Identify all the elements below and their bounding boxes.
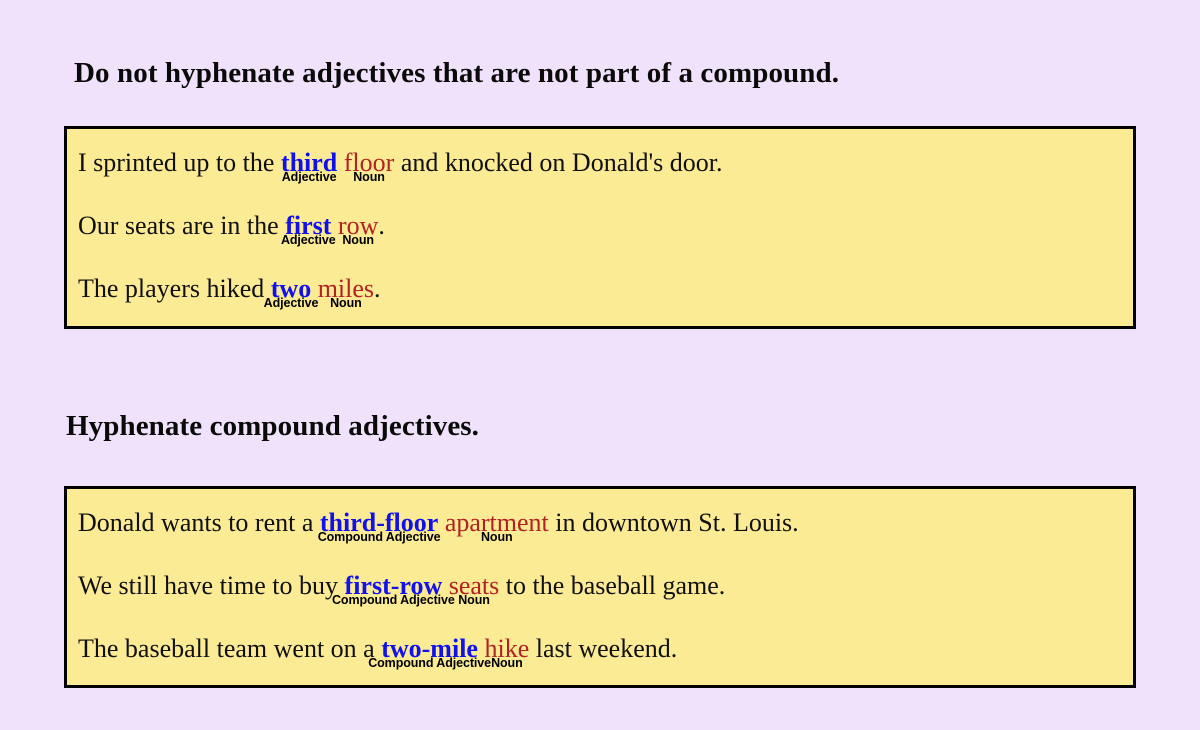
example-sentence: Our seats are in the firstAdjective rowN… [78,213,385,239]
example-sentence: We still have time to buy first-rowCompo… [78,573,725,599]
section-heading-no-hyphen: Do not hyphenate adjectives that are not… [74,57,839,90]
noun-label: Noun [342,234,374,247]
annotated-adjective: two-mileCompound Adjective [381,636,478,662]
adjective-label: Compound Adjective [318,531,441,544]
sentence-text-after: . [378,211,385,240]
annotated-noun: rowNoun [338,213,378,239]
noun-label: Noun [458,594,490,607]
noun-label: Noun [330,297,362,310]
annotated-noun: floorNoun [344,150,395,176]
sentence-text-after: last weekend. [529,634,677,663]
sentence-text-before: I sprinted up to the [78,148,281,177]
sentence-text-before: The players hiked [78,274,271,303]
example-box-no-hyphen: I sprinted up to the thirdAdjective floo… [64,126,1136,329]
example-sentence: Donald wants to rent a third-floorCompou… [78,510,799,536]
noun-label: Noun [491,657,523,670]
annotated-noun: apartmentNoun [445,510,549,536]
example-box-hyphenate: Donald wants to rent a third-floorCompou… [64,486,1136,688]
annotated-noun: hikeNoun [484,636,529,662]
adjective-label: Compound Adjective [368,657,491,670]
example-sentence: The players hiked twoAdjective milesNoun… [78,276,381,302]
sentence-text-before: We still have time to buy [78,571,345,600]
adjective-label: Adjective [264,297,319,310]
noun-label: Noun [481,531,513,544]
example-sentence: I sprinted up to the thirdAdjective floo… [78,150,723,176]
adjective-label: Adjective [282,171,337,184]
sentence-text-before: The baseball team went on a [78,634,381,663]
sentence-text-after: . [374,274,381,303]
adjective-label: Adjective [281,234,336,247]
annotated-adjective: twoAdjective [271,276,311,302]
noun-label: Noun [353,171,385,184]
sentence-text-after: and knocked on Donald's door. [394,148,722,177]
annotated-noun: milesNoun [318,276,374,302]
annotated-adjective: third-floorCompound Adjective [320,510,438,536]
sentence-text-after: to the baseball game. [499,571,725,600]
annotated-adjective: firstAdjective [285,213,331,239]
sentence-text-before: Donald wants to rent a [78,508,320,537]
adjective-label: Compound Adjective [332,594,455,607]
section-heading-hyphenate: Hyphenate compound adjectives. [66,410,479,443]
annotated-adjective: first-rowCompound Adjective [345,573,443,599]
annotated-noun: seatsNoun [449,573,500,599]
sentence-text-after: in downtown St. Louis. [549,508,799,537]
worksheet-page: Do not hyphenate adjectives that are not… [0,0,1200,730]
sentence-text-before: Our seats are in the [78,211,285,240]
annotated-adjective: thirdAdjective [281,150,337,176]
example-sentence: The baseball team went on a two-mileComp… [78,636,677,662]
